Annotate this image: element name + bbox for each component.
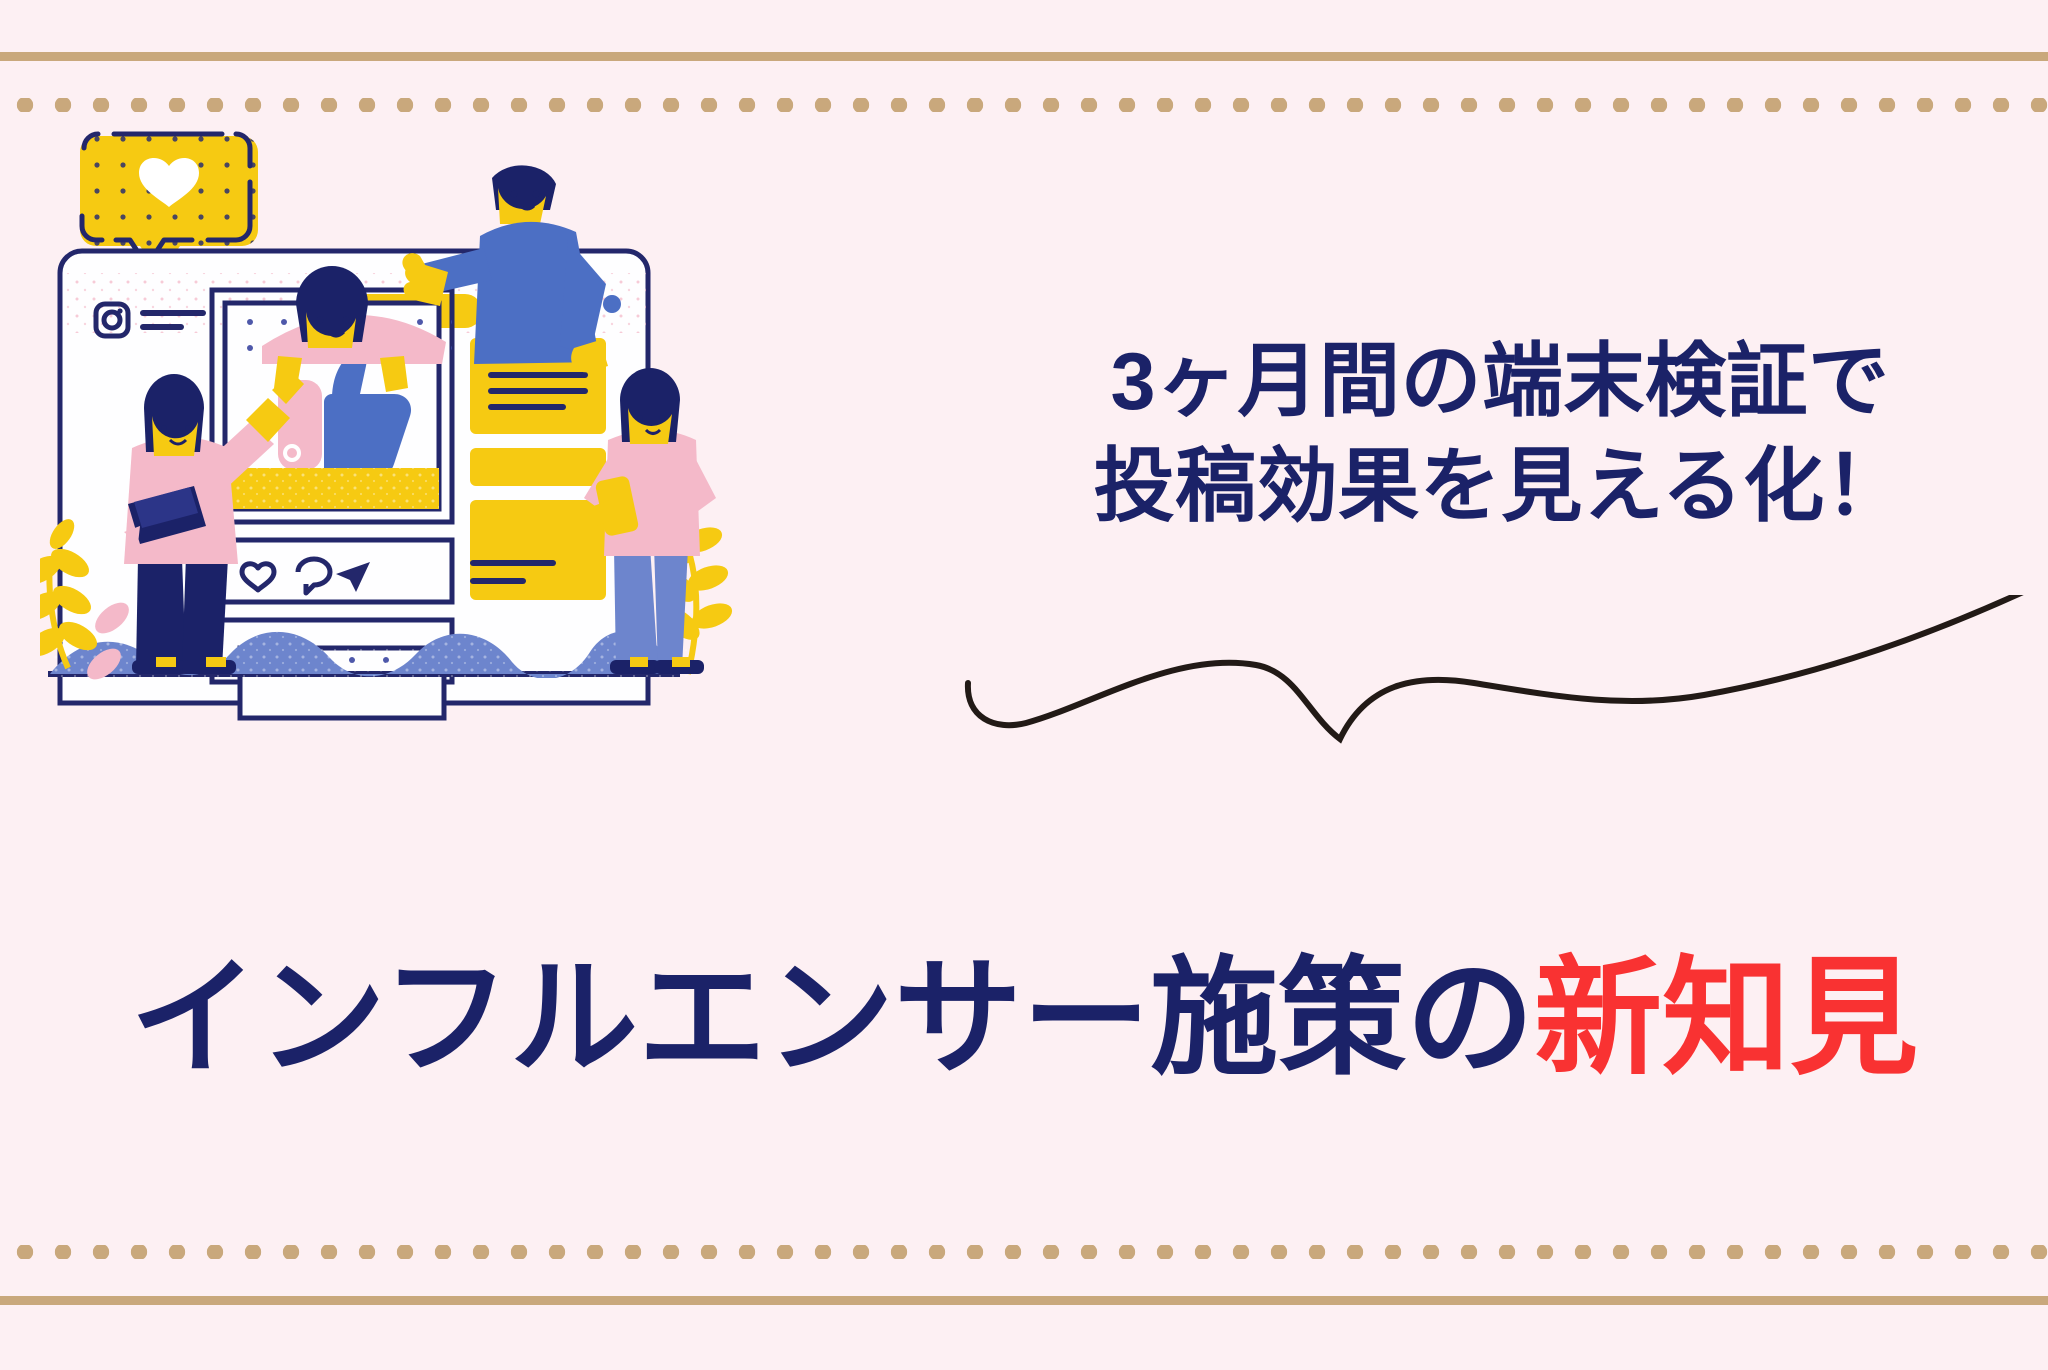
bottom-gold-rule (0, 1296, 2048, 1305)
subheadline-block: 3ヶ月間の端末検証で 投稿効果を見える化！ (1010, 330, 1990, 541)
banner-root: 3ヶ月間の端末検証で 投稿効果を見える化！ インフルエンサー施策の新知見 (0, 0, 2048, 1370)
subheadline-line-2: 投稿効果を見える化！ (1010, 435, 1990, 540)
bottom-dotted-rule (0, 1245, 2048, 1259)
social-media-illustration (40, 108, 940, 888)
headline-dark-part: インフルエンサー施策の (130, 947, 1534, 1090)
main-headline: インフルエンサー施策の新知見 (0, 955, 2048, 1083)
top-gold-rule (0, 52, 2048, 61)
headline-red-part: 新知見 (1534, 947, 1918, 1090)
decorative-squiggle (960, 595, 2048, 770)
subheadline-line-1: 3ヶ月間の端末検証で (1010, 330, 1990, 435)
